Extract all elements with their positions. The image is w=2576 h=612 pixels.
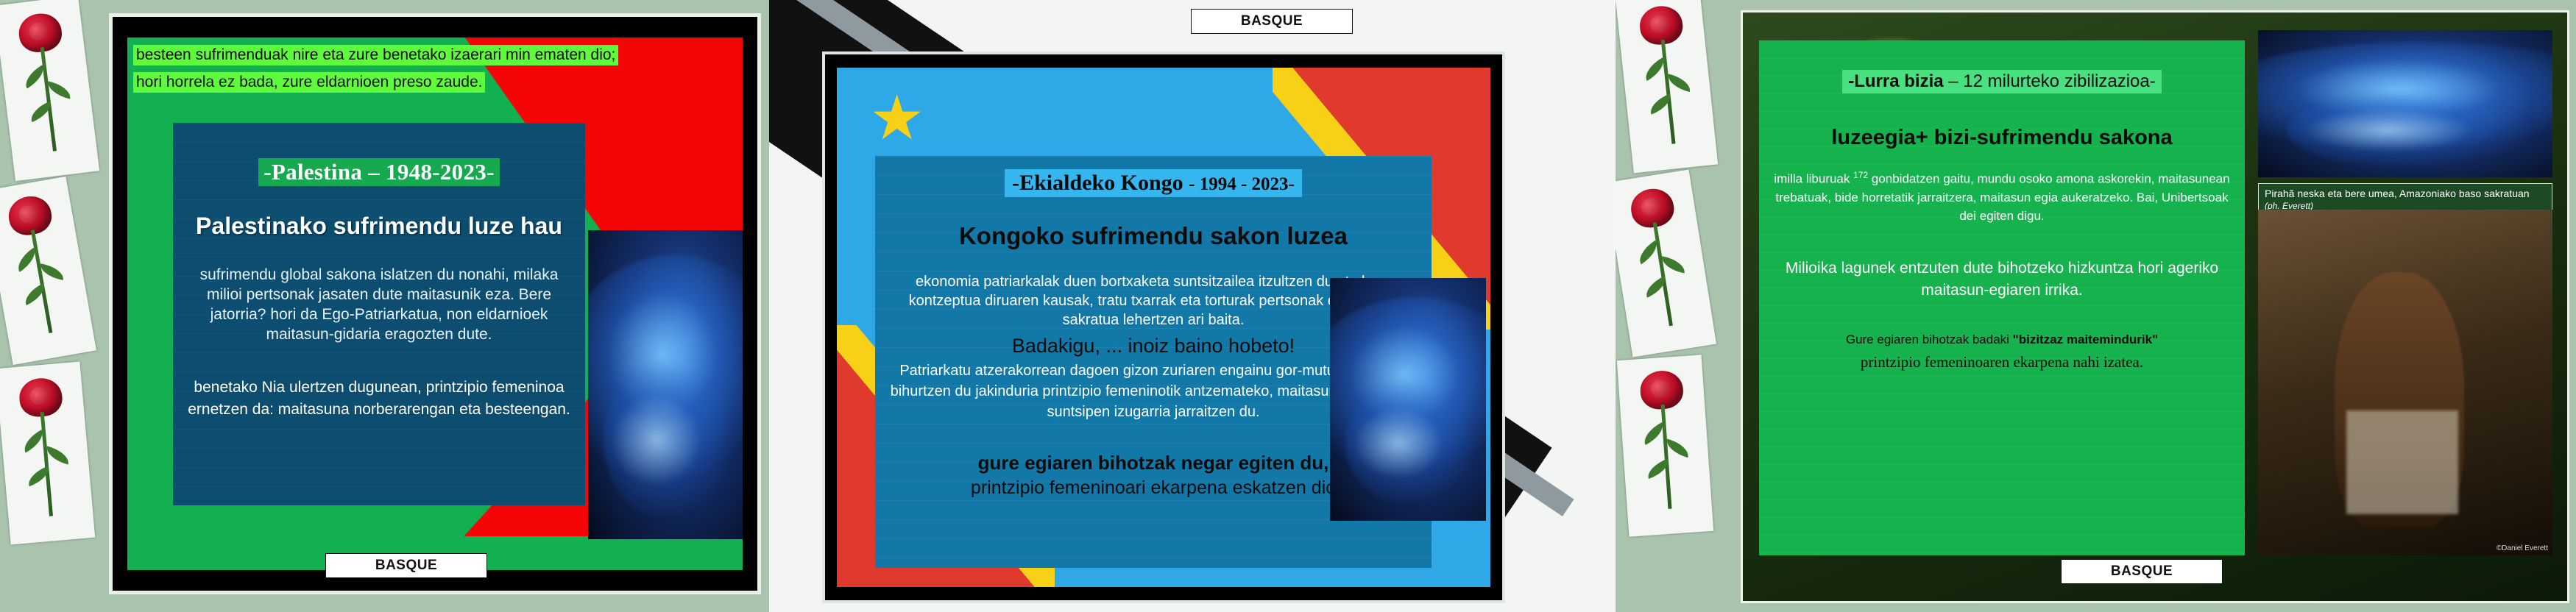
rose-card [1617, 355, 1713, 536]
rose-card [0, 177, 96, 365]
palestine-closing: benetako Nia ulertzen dugunean, printzip… [183, 377, 575, 421]
photo-credit: ©Daniel Everett [2497, 544, 2548, 552]
rose-card [0, 0, 99, 181]
basque-tag-amazon[interactable]: BASQUE [2061, 559, 2223, 584]
amazon-middle-text: Milioika lagunek entzuten dute bihotzeko… [1771, 257, 2233, 302]
palestine-text-box: -Palestina – 1948-2023- Palestinako sufr… [173, 123, 585, 505]
rose-card [1616, 0, 1718, 173]
panel-amazon: -Lurra bizia – 12 milurteko zibilizazioa… [1616, 0, 2576, 612]
palestine-highlight-block: besteen sufrimenduak nire eta zure benet… [133, 45, 704, 99]
amazon-title: -Lurra bizia – 12 milurteko zibilizazioa… [1842, 70, 2161, 93]
panel-palestine: besteen sufrimenduak nire eta zure benet… [0, 0, 769, 612]
piraha-mother-photo: ©Daniel Everett [2258, 210, 2552, 555]
amazon-serif-line: printzipio femeninoaren ekarpena nahi iz… [1771, 353, 2233, 371]
congo-title: -Ekialdeko Kongo - 1994 - 2023- [1005, 169, 1302, 197]
photo-caption-text: Pirahã neska eta bere umea, Amazoniako b… [2265, 188, 2530, 199]
palestine-title: -Palestina – 1948-2023- [258, 158, 499, 186]
amazon-headline: luzeegia+ bizi-sufrimendu sakona [1765, 126, 2239, 150]
cosmic-figure-photo [588, 230, 743, 539]
congo-slide-frame: ★ -Ekialdeko Kongo - 1994 - 2023- Kongok… [822, 51, 1505, 603]
basque-tag-palestine[interactable]: BASQUE [325, 553, 487, 578]
basque-tag-congo[interactable]: BASQUE [1191, 9, 1353, 34]
amazon-low-text: Gure egiaren bihotzak badaki "bizitzaz m… [1771, 331, 2233, 349]
amazon-slide-frame: -Lurra bizia – 12 milurteko zibilizazioa… [1741, 10, 2569, 603]
palestine-slide-frame: besteen sufrimenduak nire eta zure benet… [109, 13, 761, 594]
rose-icon [1622, 185, 1698, 331]
highlight-line-2: hori horrela ez bada, zure eldarnioen pr… [133, 72, 485, 93]
cosmic-figure-photo [2258, 30, 2552, 177]
palestine-paragraph: sufrimendu global sakona islatzen du non… [183, 265, 575, 344]
cosmic-figure-photo [1330, 278, 1486, 521]
palestine-headline: Palestinako sufrimendu luze hau [180, 213, 578, 240]
palestine-flag-background: besteen sufrimenduak nire eta zure benet… [127, 38, 743, 570]
rose-icon [0, 192, 77, 339]
rose-icon [10, 10, 82, 156]
rose-icon [1632, 369, 1696, 513]
highlight-line-1: besteen sufrimenduak nire eta zure benet… [133, 45, 618, 65]
rose-icon [12, 376, 78, 520]
rose-card [1616, 169, 1716, 357]
congo-title-main: -Ekialdeko Kongo [1012, 171, 1183, 195]
congo-headline: Kongoko sufrimendu sakon luzea [881, 222, 1426, 250]
amazon-low-pre: Gure egiaren bihotzak badaki [1846, 332, 2013, 346]
amazon-text-box: -Lurra bizia – 12 milurteko zibilizazioa… [1759, 40, 2245, 555]
rose-card [0, 361, 95, 544]
rose-icon [1632, 4, 1700, 149]
amazon-paragraph-pre: imilla liburuak [1774, 172, 1853, 186]
amazon-paragraph: imilla liburuak 172 gonbidatzen gaitu, m… [1771, 166, 2233, 225]
panel-congo: ★ -Ekialdeko Kongo - 1994 - 2023- Kongok… [769, 0, 1616, 612]
amazon-title-bold: -Lurra bizia [1848, 71, 1943, 91]
amazon-low-bold: "bizitzaz maitemindurik" [2013, 332, 2158, 346]
rose-decoration-strip-right [1620, 0, 1738, 612]
palestine-slide-inner: besteen sufrimenduak nire eta zure benet… [113, 17, 757, 591]
amazon-paragraph-sup: 172 [1853, 170, 1868, 180]
congo-flag-background: ★ -Ekialdeko Kongo - 1994 - 2023- Kongok… [837, 68, 1490, 587]
congo-title-dates: - 1994 - 2023- [1189, 174, 1295, 194]
amazon-title-rest: – 12 milurteko zibilizazioa- [1948, 71, 2155, 91]
slide-collage: besteen sufrimenduak nire eta zure benet… [0, 0, 2576, 612]
